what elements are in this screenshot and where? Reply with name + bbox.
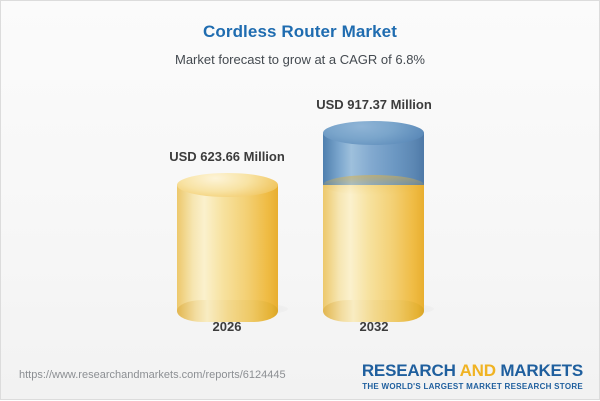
category-label-2026: 2026: [157, 319, 297, 334]
report-url[interactable]: https://www.researchandmarkets.com/repor…: [19, 369, 286, 381]
chart-plot-area: USD 623.66 Million 2026 USD 917.37 Milli…: [1, 1, 600, 401]
logo-tagline: THE WORLD'S LARGEST MARKET RESEARCH STOR…: [362, 382, 583, 391]
research-and-markets-logo[interactable]: RESEARCH AND MARKETS THE WORLD'S LARGEST…: [362, 361, 583, 391]
bar-top-cap-2026: [177, 173, 278, 197]
bar-segment-body: [323, 185, 424, 311]
bar-segment-base-2032: [323, 185, 424, 311]
bar-segment-base-2026: [177, 185, 278, 311]
data-label-2032: USD 917.37 Million: [304, 97, 444, 112]
bar-segment-divider: [323, 175, 424, 195]
bar-2032[interactable]: [323, 121, 424, 311]
chart-card: Cordless Router Market Market forecast t…: [0, 0, 600, 400]
logo-word-markets: MARKETS: [500, 361, 583, 380]
category-label-2032: 2032: [304, 319, 444, 334]
logo-word-research: RESEARCH: [362, 361, 456, 380]
bar-2026[interactable]: [177, 173, 278, 311]
bar-segment-body: [177, 185, 278, 311]
logo-wordmark: RESEARCH AND MARKETS: [362, 361, 583, 381]
logo-word-and: AND: [460, 361, 496, 380]
bar-top-cap-2032: [323, 121, 424, 145]
data-label-2026: USD 623.66 Million: [157, 149, 297, 164]
chart-footer: https://www.researchandmarkets.com/repor…: [1, 357, 599, 399]
